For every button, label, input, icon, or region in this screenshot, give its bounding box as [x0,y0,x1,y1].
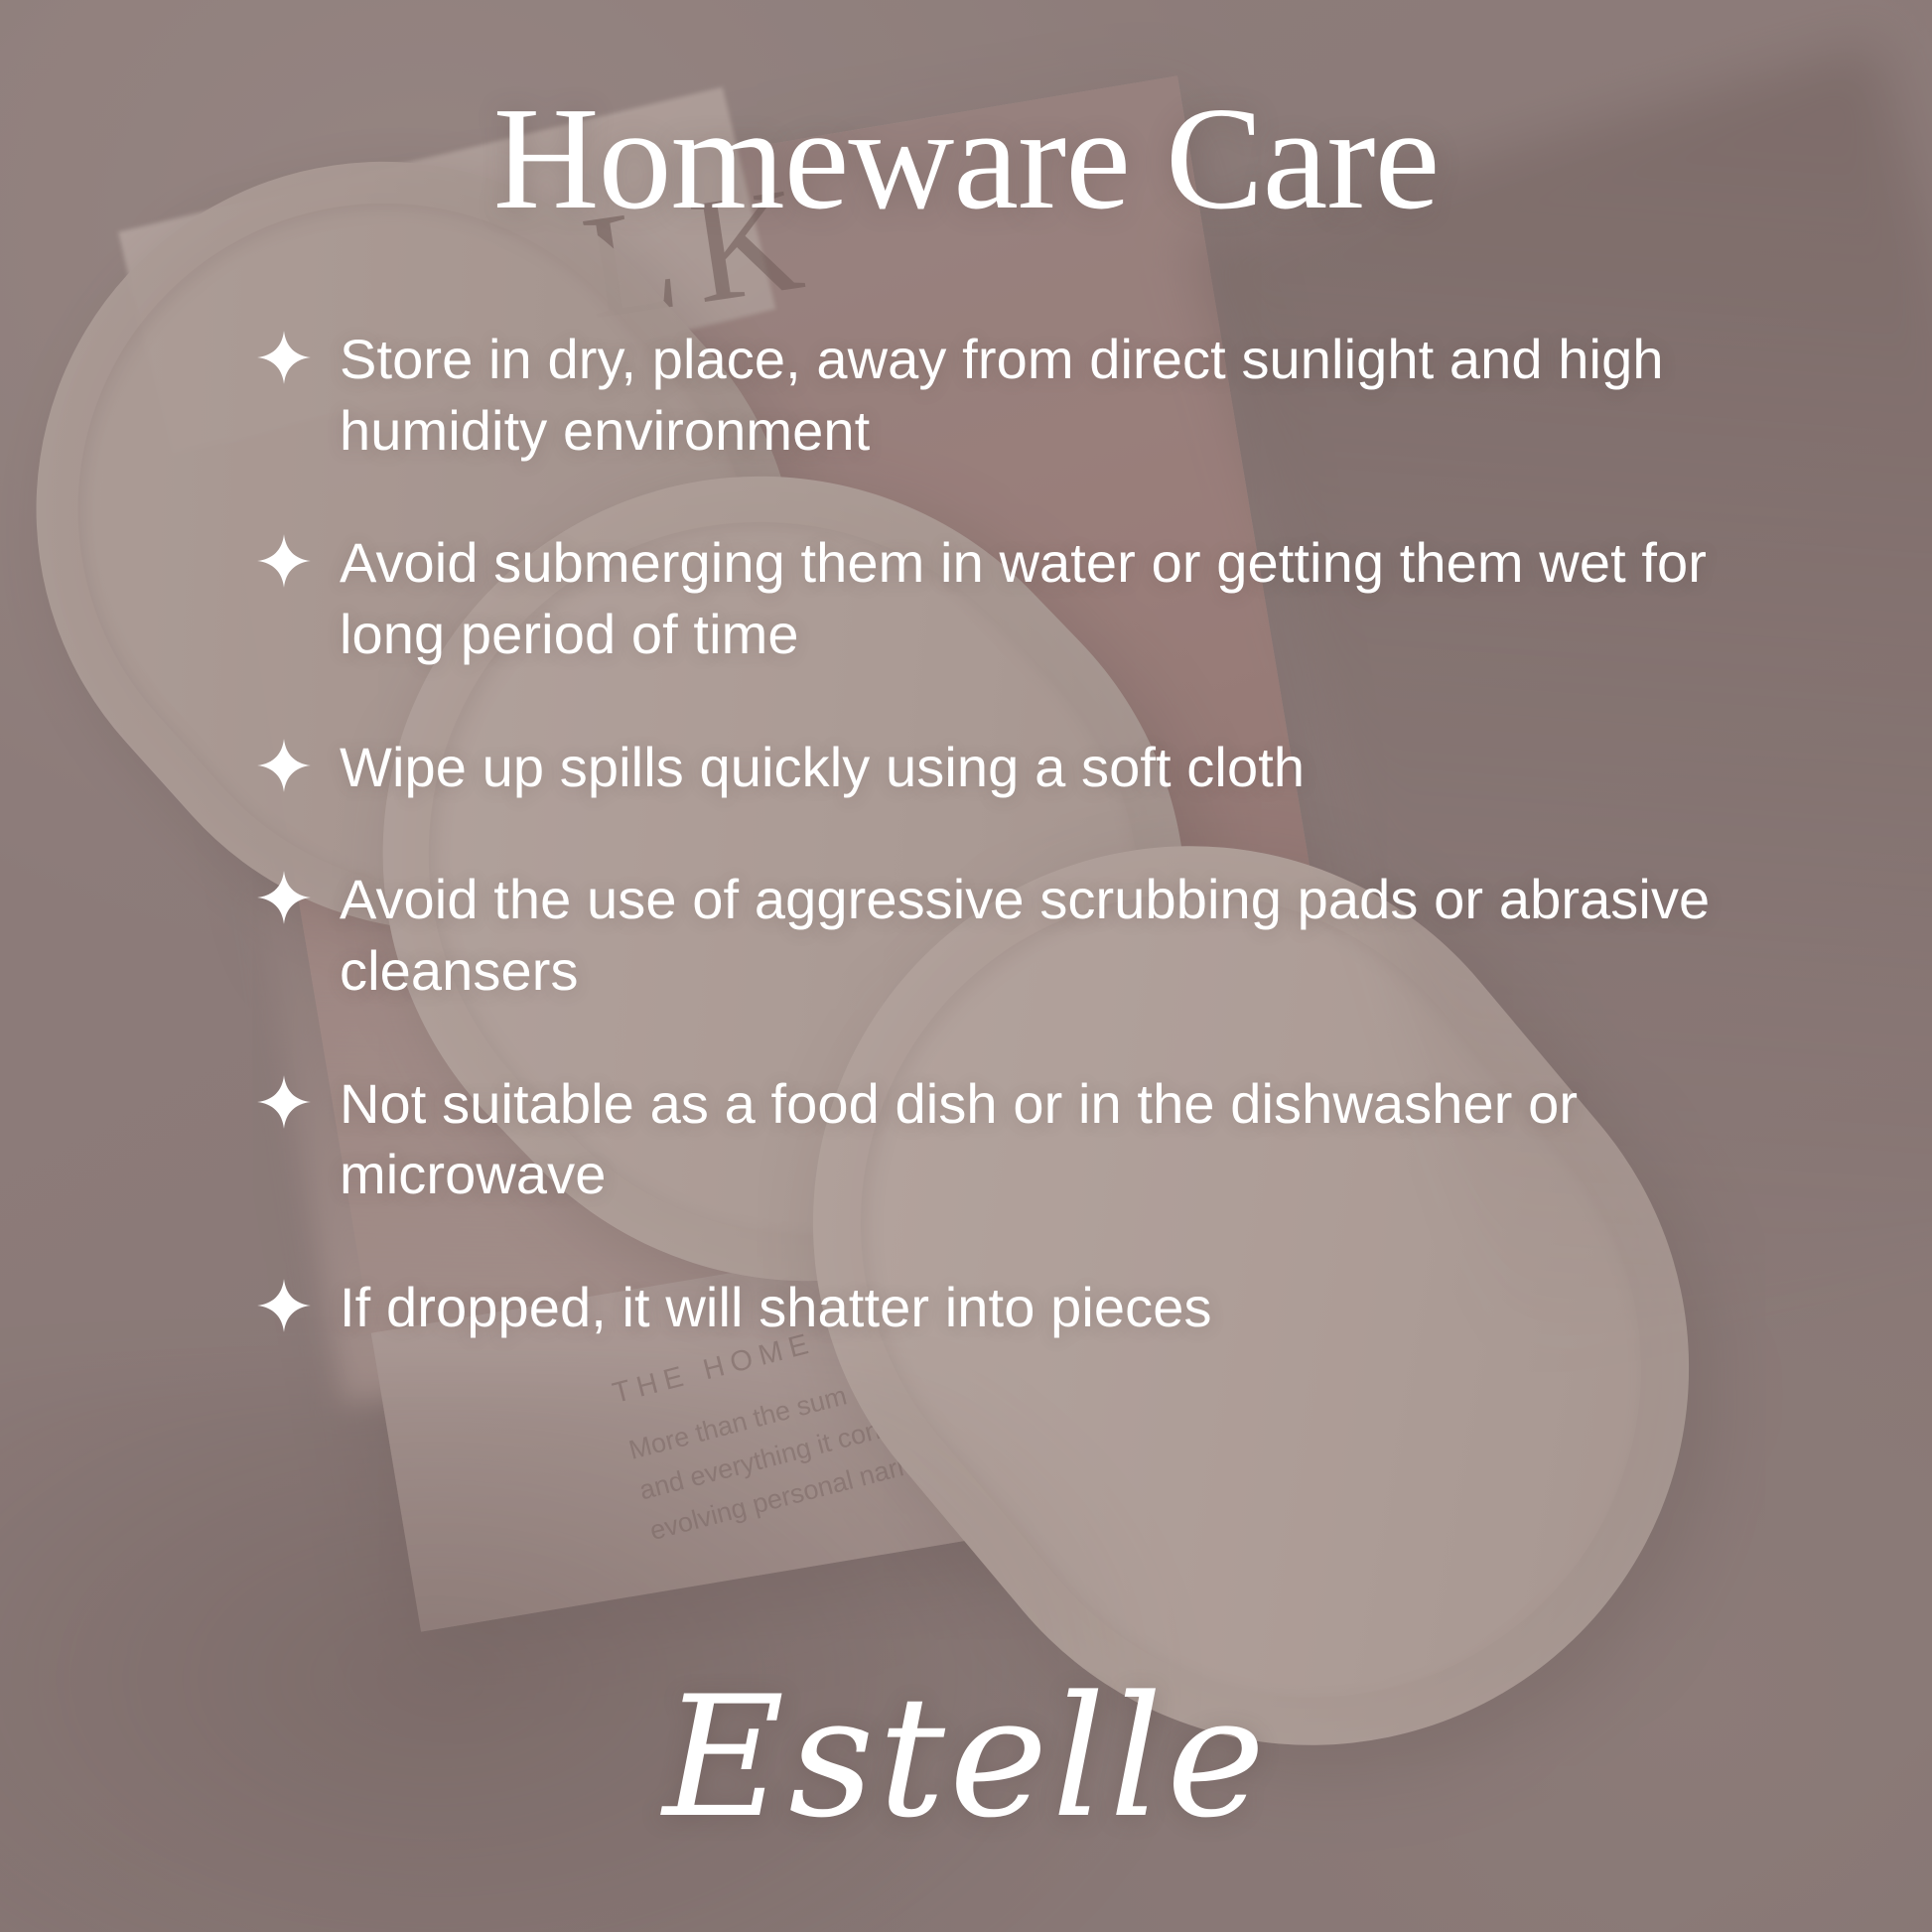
homeware-care-card: LK THE HOME ISSUE More than the sum of i… [0,0,1932,1932]
sparkle-icon [256,1278,312,1339]
sparkle-icon [256,1074,312,1136]
sparkle-icon [256,330,312,391]
sparkle-icon [256,738,312,799]
list-item-label: Not suitable as a food dish or in the di… [340,1068,1720,1210]
list-item-label: Avoid the use of aggressive scrubbing pa… [340,864,1720,1006]
list-item-label: Wipe up spills quickly using a soft clot… [340,732,1305,803]
list-item-label: Store in dry, place, away from direct su… [340,324,1720,466]
list-item: Wipe up spills quickly using a soft clot… [256,732,1783,803]
sparkle-icon [256,870,312,931]
brand-signature: Estelle [0,1674,1932,1841]
sparkle-icon [256,533,312,595]
page-title: Homeware Care [0,85,1932,232]
list-item: Avoid the use of aggressive scrubbing pa… [256,864,1783,1006]
list-item-label: If dropped, it will shatter into pieces [340,1272,1212,1343]
list-item: If dropped, it will shatter into pieces [256,1272,1783,1343]
list-item: Store in dry, place, away from direct su… [256,324,1783,466]
list-item: Not suitable as a food dish or in the di… [256,1068,1783,1210]
card-content: Homeware Care Store in dry, place, away … [0,0,1932,1932]
list-item: Avoid submerging them in water or gettin… [256,527,1783,669]
list-item-label: Avoid submerging them in water or gettin… [340,527,1720,669]
